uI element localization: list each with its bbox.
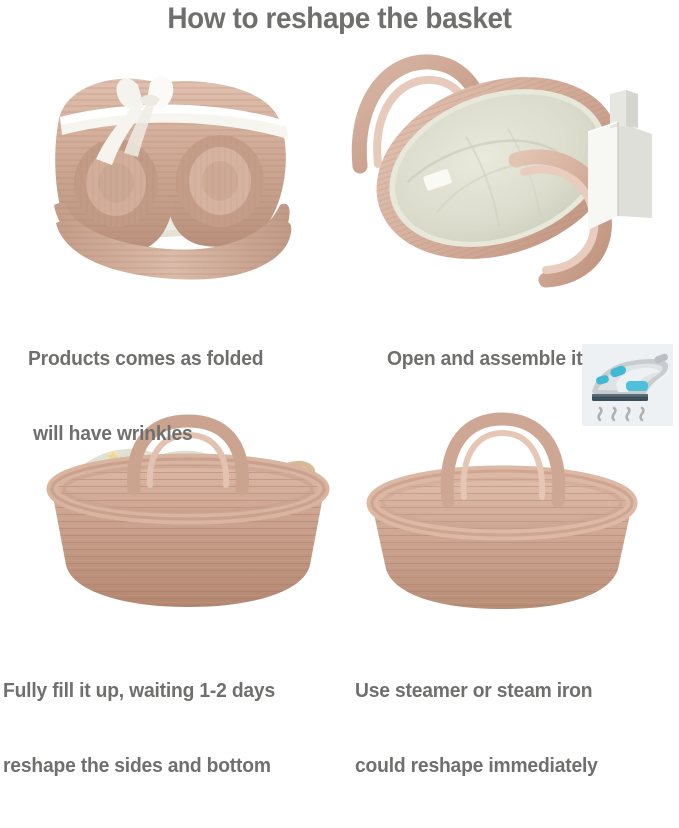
basket-body bbox=[372, 471, 632, 609]
open-basket-photo bbox=[338, 48, 658, 290]
caption-line: Fully fill it up, waiting 1-2 days bbox=[3, 678, 275, 703]
infographic-page: How to reshape the basket bbox=[0, 0, 679, 687]
caption-line: reshape the sides and bottom bbox=[3, 753, 275, 778]
folded-basket-photo bbox=[30, 55, 330, 290]
steam-iron-glyph bbox=[582, 344, 673, 426]
caption-line: Products comes as folded bbox=[28, 346, 263, 371]
iron-knob bbox=[626, 381, 648, 391]
caption-step-1: Products comes as folded will have wrink… bbox=[28, 296, 263, 496]
caption-step-3: Fully fill it up, waiting 1-2 days resha… bbox=[3, 628, 275, 828]
open-basket-illustration bbox=[338, 48, 658, 290]
caption-line: Use steamer or steam iron bbox=[355, 678, 598, 703]
caption-line: could reshape immediately bbox=[355, 753, 598, 778]
caption-step-4: Use steamer or steam iron could reshape … bbox=[355, 628, 598, 828]
steam-iron-icon bbox=[582, 344, 673, 426]
caption-line: will have wrinkles bbox=[28, 421, 263, 446]
caption-line: Open and assemble it bbox=[387, 346, 582, 371]
page-title: How to reshape the basket bbox=[24, 1, 655, 37]
caption-step-2: Open and assemble it bbox=[387, 296, 582, 421]
folded-basket-illustration bbox=[30, 55, 330, 290]
